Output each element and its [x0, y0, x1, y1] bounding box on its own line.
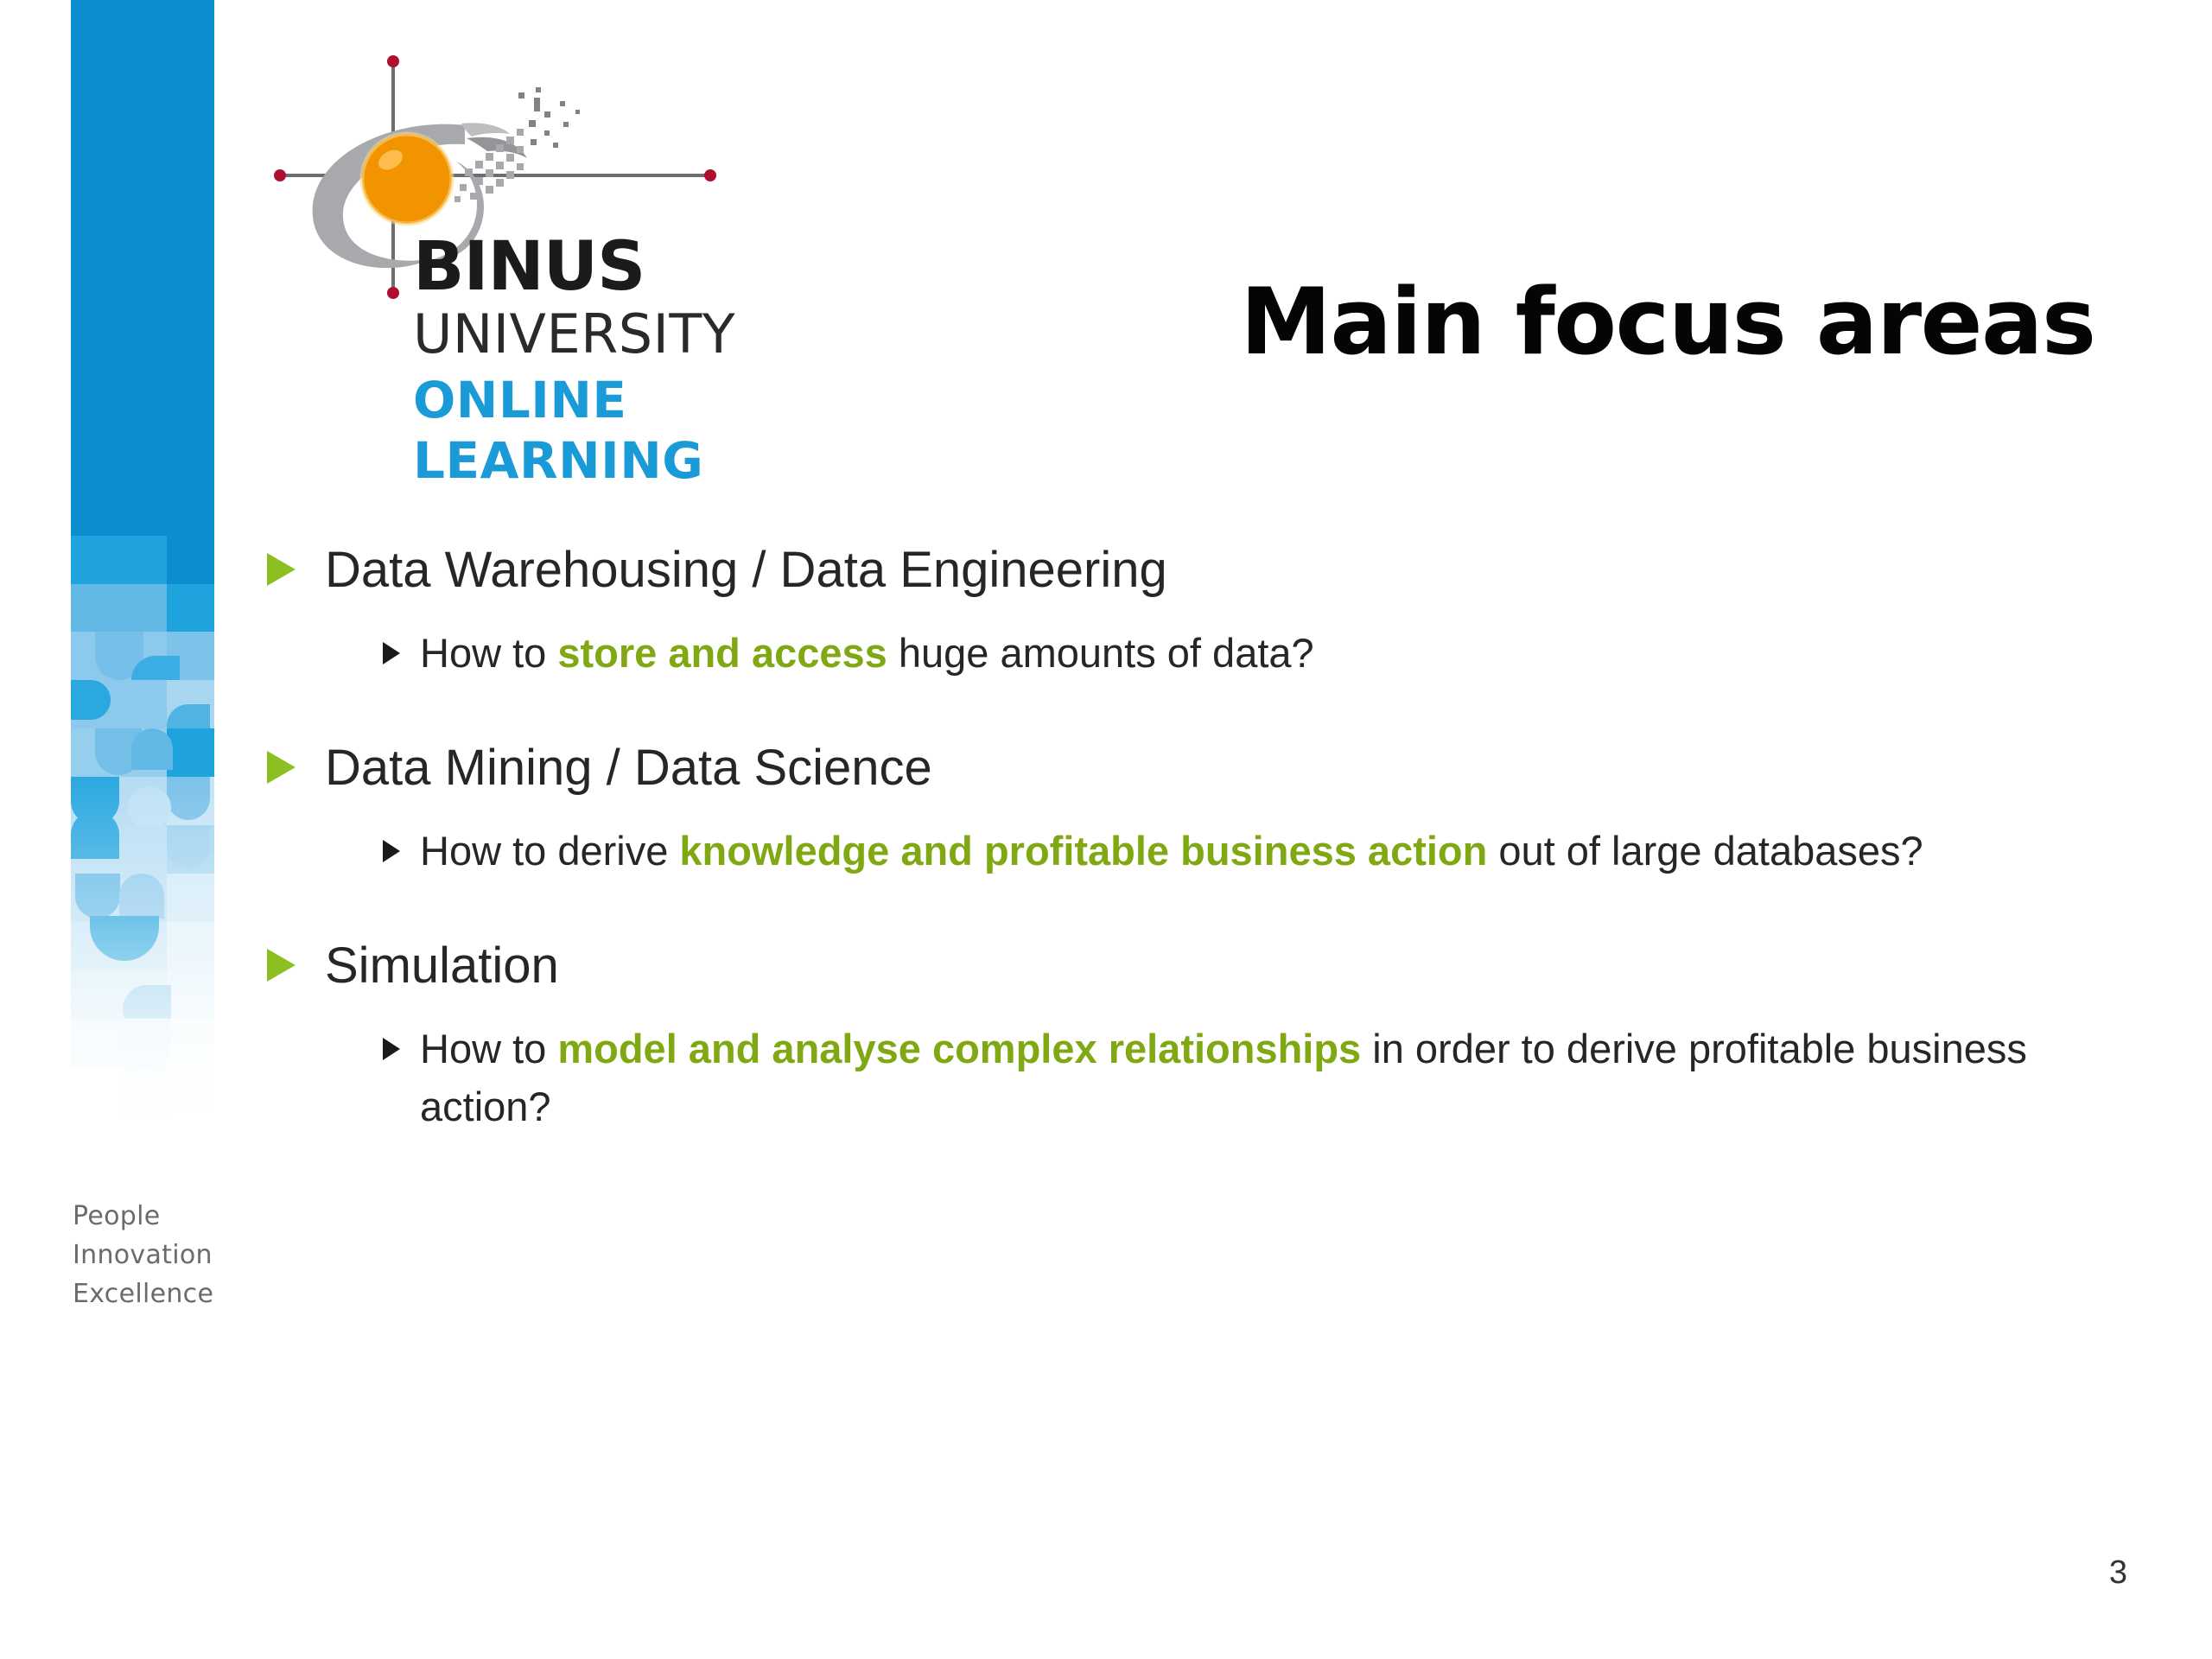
tagline-line-2: Innovation — [73, 1236, 213, 1274]
pattern-circle — [128, 786, 171, 829]
sub-bullet-triangle-icon — [383, 1038, 400, 1060]
sub-bullet-suffix: out of large databases? — [1487, 828, 1923, 874]
sidebar-decoration — [71, 0, 214, 1149]
sub-bullet-highlight: knowledge and profitable business action — [679, 828, 1487, 874]
bullet-heading-label: Data Warehousing / Data Engineering — [325, 542, 1167, 598]
pattern-cell — [167, 536, 214, 584]
pattern-cell — [71, 584, 167, 632]
sub-bullet-prefix: How to derive — [420, 828, 679, 874]
sub-bullet-triangle-icon — [383, 840, 400, 862]
pattern-circle — [167, 777, 210, 820]
pattern-cell — [167, 922, 214, 970]
bullet-triangle-icon — [267, 553, 296, 586]
slide: People Innovation Excellence — [0, 0, 2212, 1659]
bullet-heading-label: Data Mining / Data Science — [325, 740, 932, 796]
logo-line-university: UNIVERSITY — [413, 302, 741, 366]
sub-bullet-highlight: store and access — [557, 630, 887, 676]
pattern-circle — [75, 874, 120, 918]
tagline-line-1: People — [73, 1197, 213, 1236]
logo-line-online: ONLINE — [413, 370, 741, 430]
pattern-circle — [71, 680, 111, 720]
bullet-heading: Data Warehousing / Data Engineering — [259, 536, 2126, 605]
bullet-group: Simulation How to model and analyse comp… — [259, 931, 2126, 1135]
sub-bullet-prefix: How to — [420, 1026, 557, 1071]
sub-bullet-suffix: huge amounts of data? — [887, 630, 1314, 676]
bullet-subitem: How to model and analyse complex relatio… — [380, 1020, 2126, 1135]
pattern-cell — [167, 728, 214, 777]
sub-bullet-triangle-icon — [383, 642, 400, 664]
bullet-heading-label: Simulation — [325, 938, 559, 994]
pattern-circle — [119, 874, 164, 918]
page-number: 3 — [2109, 1554, 2127, 1592]
bullet-group: Data Warehousing / Data Engineering How … — [259, 536, 2126, 682]
pattern-cell — [167, 584, 214, 632]
logo-line-learning: LEARNING — [413, 430, 741, 491]
bullet-triangle-icon — [267, 751, 296, 784]
bullet-list: Data Warehousing / Data Engineering How … — [259, 536, 2126, 1135]
tagline-line-3: Excellence — [73, 1274, 213, 1313]
logo-line-binus: BINUS — [413, 233, 741, 301]
pattern-circle — [123, 1019, 171, 1067]
pattern-cell — [123, 1067, 171, 1116]
bullet-heading: Data Mining / Data Science — [259, 734, 2126, 803]
pattern-circle — [131, 728, 173, 770]
tagline: People Innovation Excellence — [73, 1197, 213, 1313]
pattern-cell — [71, 536, 167, 584]
pattern-cell — [167, 874, 214, 922]
bullet-subitem: How to store and access huge amounts of … — [380, 624, 2126, 682]
pattern-circle — [167, 1067, 214, 1116]
bullet-triangle-icon — [267, 949, 296, 982]
pattern-cell — [167, 1019, 214, 1067]
bullet-heading: Simulation — [259, 931, 2126, 1001]
logo-wordmark: BINUS UNIVERSITY ONLINE LEARNING — [413, 233, 741, 491]
binus-logo: BINUS UNIVERSITY ONLINE LEARNING — [259, 48, 743, 505]
pattern-circle — [71, 810, 119, 859]
sidebar-pattern — [71, 536, 214, 1149]
bullet-group: Data Mining / Data Science How to derive… — [259, 734, 2126, 880]
sidebar-solid-band — [71, 0, 214, 546]
page-title: Main focus areas — [1210, 275, 2126, 370]
sub-bullet-highlight: model and analyse complex relationships — [557, 1026, 1361, 1071]
bullet-subitem: How to derive knowledge and profitable b… — [380, 822, 2126, 880]
pattern-circle — [167, 825, 210, 868]
pattern-cell — [167, 970, 214, 1019]
sub-bullet-prefix: How to — [420, 630, 557, 676]
